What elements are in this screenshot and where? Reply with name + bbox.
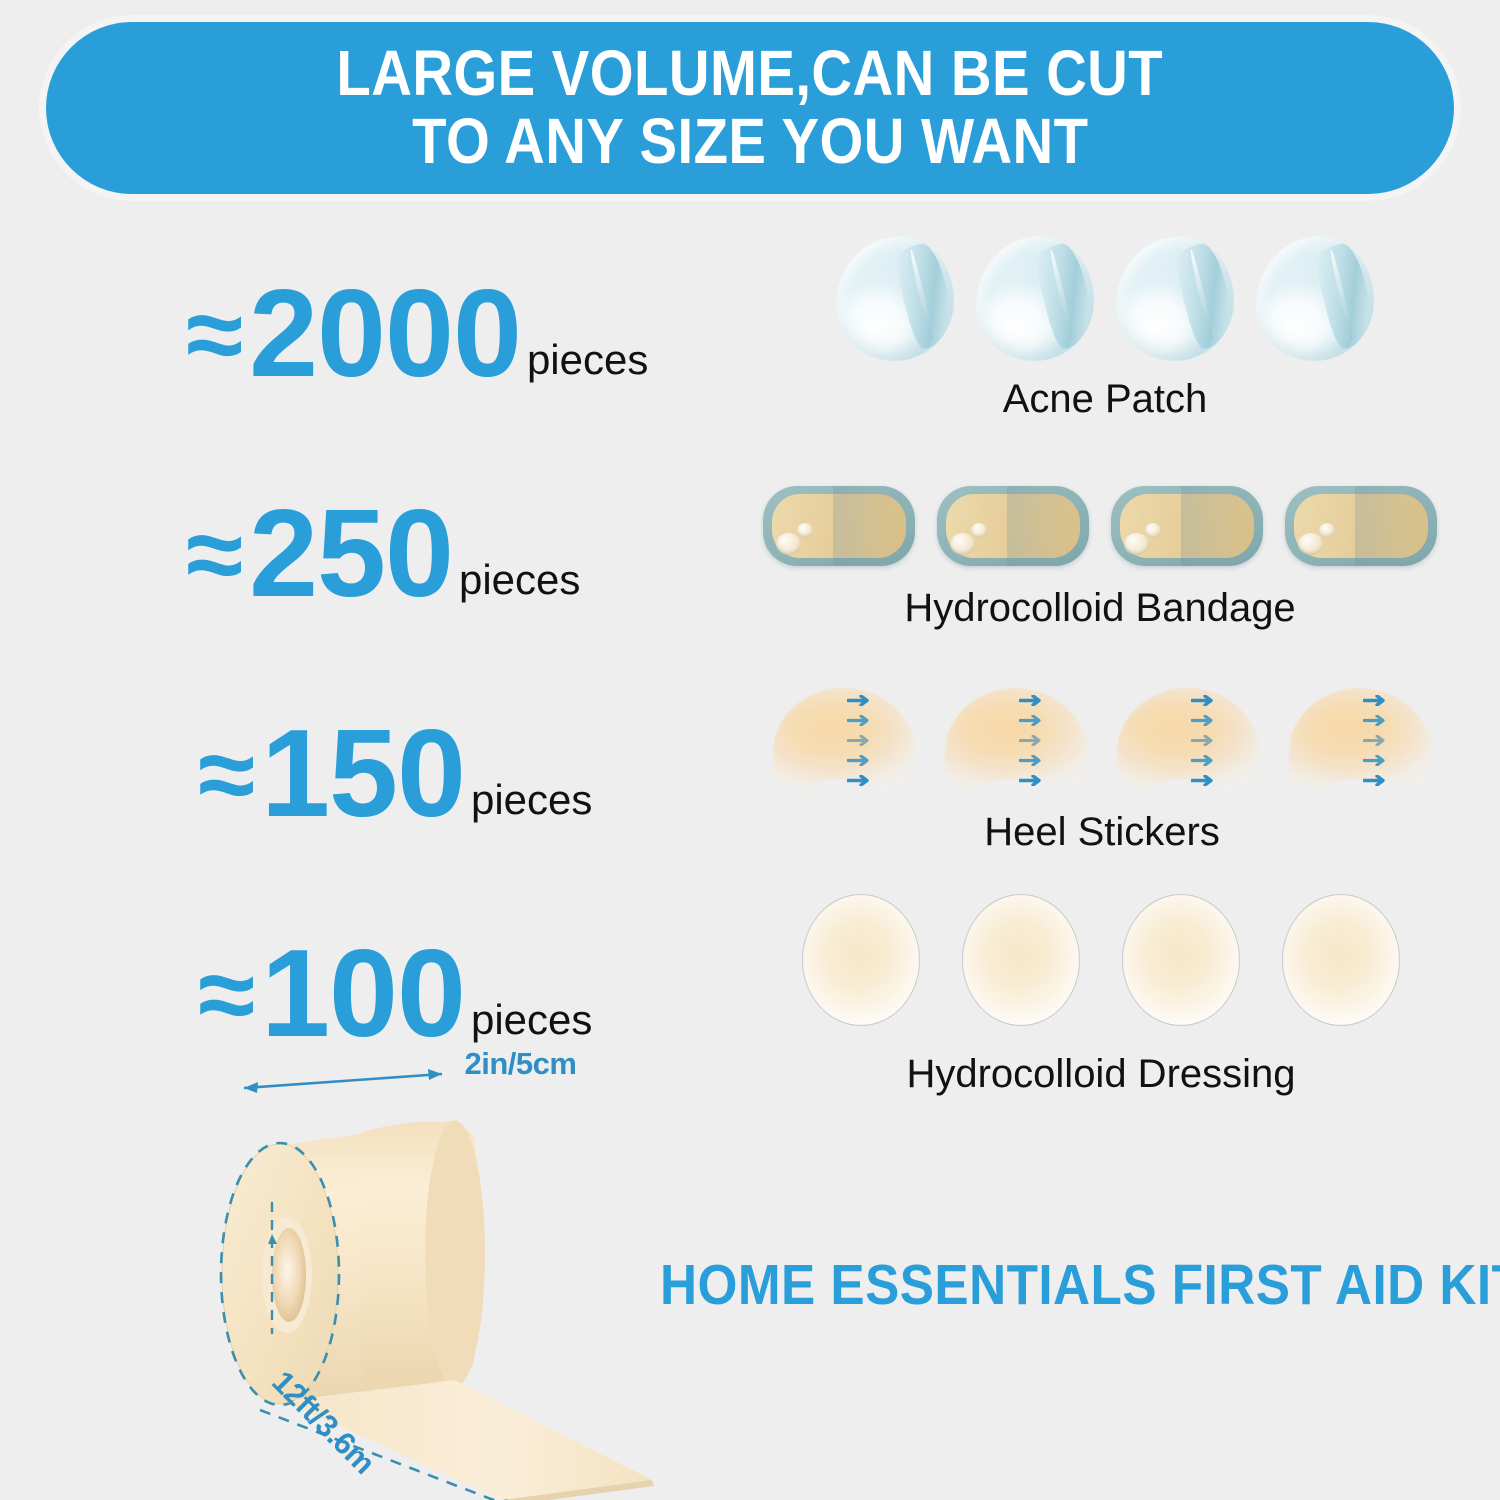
- tape-roll-illustration: 2in/5cm 12ft/3.6m: [182, 1042, 712, 1500]
- quantity-row-hydrocolloid-bandage: ≈ 250 pieces: [186, 492, 580, 616]
- arrow-right-icon: [1019, 735, 1045, 746]
- bandage-bubble-small: [797, 523, 813, 538]
- hydrocolloid-bandage-icon: [937, 486, 1089, 566]
- hydrocolloid-bandage-icon: [1285, 486, 1437, 566]
- width-dimension-line: [244, 1074, 442, 1088]
- quantity-unit: pieces: [527, 339, 648, 381]
- product-item-list: [802, 894, 1400, 1026]
- approximately-icon: ≈: [198, 723, 255, 827]
- heel-shape: [1117, 688, 1259, 792]
- hydrocolloid-bandage-icon: [1111, 486, 1263, 566]
- quantity-row-hydrocolloid-dressing: ≈ 100 pieces: [198, 932, 592, 1056]
- bandage-bubble-large: [950, 533, 975, 555]
- bandage-sheen: [1007, 486, 1089, 566]
- acne-patch-icon: [1116, 236, 1234, 361]
- width-dimension-callout: 2in/5cm: [418, 1046, 623, 1082]
- hydrocolloid-dressing-icon: [802, 894, 920, 1026]
- arrow-right-icon: [1191, 695, 1217, 706]
- hydrocolloid-bandage-icon: [763, 486, 915, 566]
- product-item-list: [773, 688, 1431, 792]
- quantity-unit: pieces: [471, 779, 592, 821]
- product-label: Hydrocolloid Dressing: [906, 1054, 1295, 1094]
- arrow-right-icon: [1363, 695, 1389, 706]
- quantity-value: 2000: [249, 272, 521, 396]
- banner-line-1: LARGE VOLUME,CAN BE CUT: [337, 40, 1164, 108]
- quantity-value: 250: [249, 492, 453, 616]
- bandage-bubble-large: [1298, 533, 1323, 555]
- banner-line-2: TO ANY SIZE YOU WANT: [412, 108, 1088, 176]
- product-label: Hydrocolloid Bandage: [904, 588, 1295, 628]
- product-item-list: [836, 236, 1374, 361]
- arrow-right-icon: [1019, 775, 1045, 786]
- bandage-bubble-small: [1319, 523, 1335, 538]
- quantity-unit: pieces: [459, 559, 580, 601]
- quantity-row-acne-patch: ≈ 2000 pieces: [186, 272, 648, 396]
- arrow-right-icon: [1191, 755, 1217, 766]
- approximately-icon: ≈: [198, 943, 255, 1047]
- roll-right-edge: [425, 1121, 485, 1387]
- approximately-icon: ≈: [186, 283, 243, 387]
- arrow-right-icon: [847, 735, 873, 746]
- heel-arrow-column: [1191, 695, 1217, 786]
- bandage-bubble-small: [1145, 523, 1161, 538]
- heel-shape: [1289, 688, 1431, 792]
- arrow-right-icon: [1019, 715, 1045, 726]
- heel-arrow-column: [1019, 695, 1045, 786]
- hydrocolloid-dressing-icon: [962, 894, 1080, 1026]
- roll-core-hole: [272, 1228, 306, 1322]
- product-group-hydrocolloid-bandage: Hydrocolloid Bandage: [750, 486, 1450, 628]
- arrow-right-icon: [1363, 715, 1389, 726]
- tape-roll-graphic: [182, 1042, 712, 1500]
- acne-patch-icon: [976, 236, 1094, 361]
- bandage-sheen: [1181, 486, 1263, 566]
- bandage-bubble-large: [1124, 533, 1149, 555]
- hydrocolloid-dressing-icon: [1122, 894, 1240, 1026]
- heel-sticker-icon: [1289, 688, 1431, 792]
- arrow-right-icon: [847, 695, 873, 706]
- acne-patch-icon: [1256, 236, 1374, 361]
- heel-sticker-icon: [945, 688, 1087, 792]
- heel-sticker-icon: [773, 688, 915, 792]
- arrow-right-icon: [1019, 755, 1045, 766]
- heel-shape: [773, 688, 915, 792]
- quantity-row-heel-stickers: ≈ 150 pieces: [198, 712, 592, 836]
- product-item-list: [763, 486, 1437, 566]
- hydrocolloid-dressing-icon: [1282, 894, 1400, 1026]
- header-banner: LARGE VOLUME,CAN BE CUT TO ANY SIZE YOU …: [46, 22, 1454, 194]
- arrow-right-icon: [847, 715, 873, 726]
- quantity-value: 150: [261, 712, 465, 836]
- bandage-bubble-small: [971, 523, 987, 538]
- heel-arrow-column: [1363, 695, 1389, 786]
- arrow-right-icon: [1019, 695, 1045, 706]
- product-label: Heel Stickers: [984, 812, 1220, 852]
- arrow-right-icon: [1363, 755, 1389, 766]
- arrow-right-icon: [847, 755, 873, 766]
- tagline: HOME ESSENTIALS FIRST AID KIT: [660, 1252, 1500, 1318]
- bandage-sheen: [1355, 486, 1437, 566]
- bandage-bubble-large: [776, 533, 801, 555]
- heel-sticker-icon: [1117, 688, 1259, 792]
- infographic-page: LARGE VOLUME,CAN BE CUT TO ANY SIZE YOU …: [0, 0, 1500, 1500]
- arrow-right-icon: [1191, 775, 1217, 786]
- heel-arrow-column: [847, 695, 873, 786]
- arrow-right-icon: [1191, 735, 1217, 746]
- acne-patch-icon: [836, 236, 954, 361]
- bandage-sheen: [833, 486, 915, 566]
- quantity-value: 100: [261, 932, 465, 1056]
- arrow-right-icon: [1363, 735, 1389, 746]
- product-group-heel-stickers: Heel Stickers: [762, 688, 1442, 852]
- heel-shape: [945, 688, 1087, 792]
- quantity-unit: pieces: [471, 999, 592, 1041]
- approximately-icon: ≈: [186, 503, 243, 607]
- arrow-right-icon: [1191, 715, 1217, 726]
- arrow-right-icon: [1363, 775, 1389, 786]
- width-arrow-left: [244, 1082, 258, 1093]
- arrow-right-icon: [847, 775, 873, 786]
- product-group-acne-patch: Acne Patch: [770, 236, 1440, 419]
- width-dimension-label: 2in/5cm: [465, 1046, 577, 1081]
- product-group-hydrocolloid-dressing: Hydrocolloid Dressing: [776, 894, 1426, 1094]
- product-label: Acne Patch: [1003, 379, 1208, 419]
